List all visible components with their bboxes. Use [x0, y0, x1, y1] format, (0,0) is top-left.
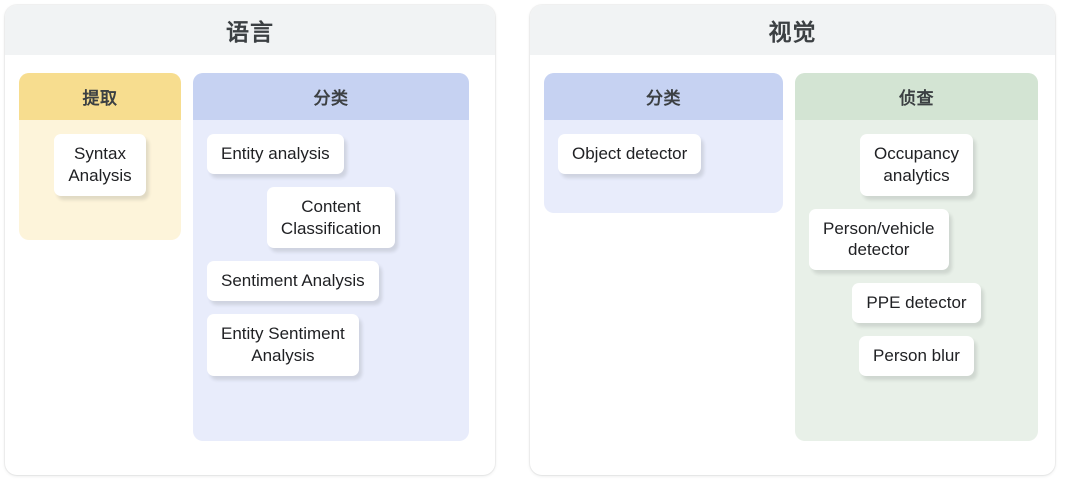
group-body-extraction: Syntax Analysis [19, 120, 181, 240]
domain-body-vision: 分类 Object detector 侦查 Occupancy analytic… [530, 55, 1055, 475]
group-extraction: 提取 Syntax Analysis [19, 73, 181, 240]
chip-person-vehicle-detector[interactable]: Person/vehicle detector [809, 209, 949, 271]
group-header-language-classification: 分类 [193, 73, 469, 120]
chip-object-detector[interactable]: Object detector [558, 134, 701, 174]
domain-header-vision: 视觉 [530, 5, 1055, 55]
domain-header-language: 语言 [5, 5, 495, 55]
domain-card-vision: 视觉 分类 Object detector 侦查 Occupancy analy… [530, 5, 1055, 475]
diagram-board: 语言 提取 Syntax Analysis 分类 Entity analysis… [0, 0, 1080, 480]
group-header-extraction: 提取 [19, 73, 181, 120]
chip-person-blur[interactable]: Person blur [859, 336, 974, 376]
group-body-detection: Occupancy analytics Person/vehicle detec… [795, 120, 1038, 441]
group-language-classification: 分类 Entity analysis Content Classificatio… [193, 73, 469, 441]
group-title-extraction: 提取 [83, 84, 118, 109]
group-detection: 侦查 Occupancy analytics Person/vehicle de… [795, 73, 1038, 441]
chip-syntax-analysis[interactable]: Syntax Analysis [54, 134, 145, 196]
group-body-language-classification: Entity analysis Content Classification S… [193, 120, 469, 441]
chip-entity-sentiment-analysis[interactable]: Entity Sentiment Analysis [207, 314, 359, 376]
group-header-detection: 侦查 [795, 73, 1038, 120]
chip-ppe-detector[interactable]: PPE detector [852, 283, 980, 323]
group-title-language-classification: 分类 [314, 84, 349, 109]
group-header-vision-classification: 分类 [544, 73, 783, 120]
group-body-vision-classification: Object detector [544, 120, 783, 213]
group-vision-classification: 分类 Object detector [544, 73, 783, 213]
chip-content-classification[interactable]: Content Classification [267, 187, 395, 249]
group-title-vision-classification: 分类 [646, 84, 681, 109]
chip-sentiment-analysis[interactable]: Sentiment Analysis [207, 261, 379, 301]
group-title-detection: 侦查 [899, 84, 934, 109]
domain-card-language: 语言 提取 Syntax Analysis 分类 Entity analysis… [5, 5, 495, 475]
domain-body-language: 提取 Syntax Analysis 分类 Entity analysis Co… [5, 55, 495, 475]
domain-title-vision: 视觉 [769, 13, 817, 47]
chip-occupancy-analytics[interactable]: Occupancy analytics [860, 134, 973, 196]
chip-entity-analysis[interactable]: Entity analysis [207, 134, 344, 174]
domain-title-language: 语言 [226, 13, 274, 47]
